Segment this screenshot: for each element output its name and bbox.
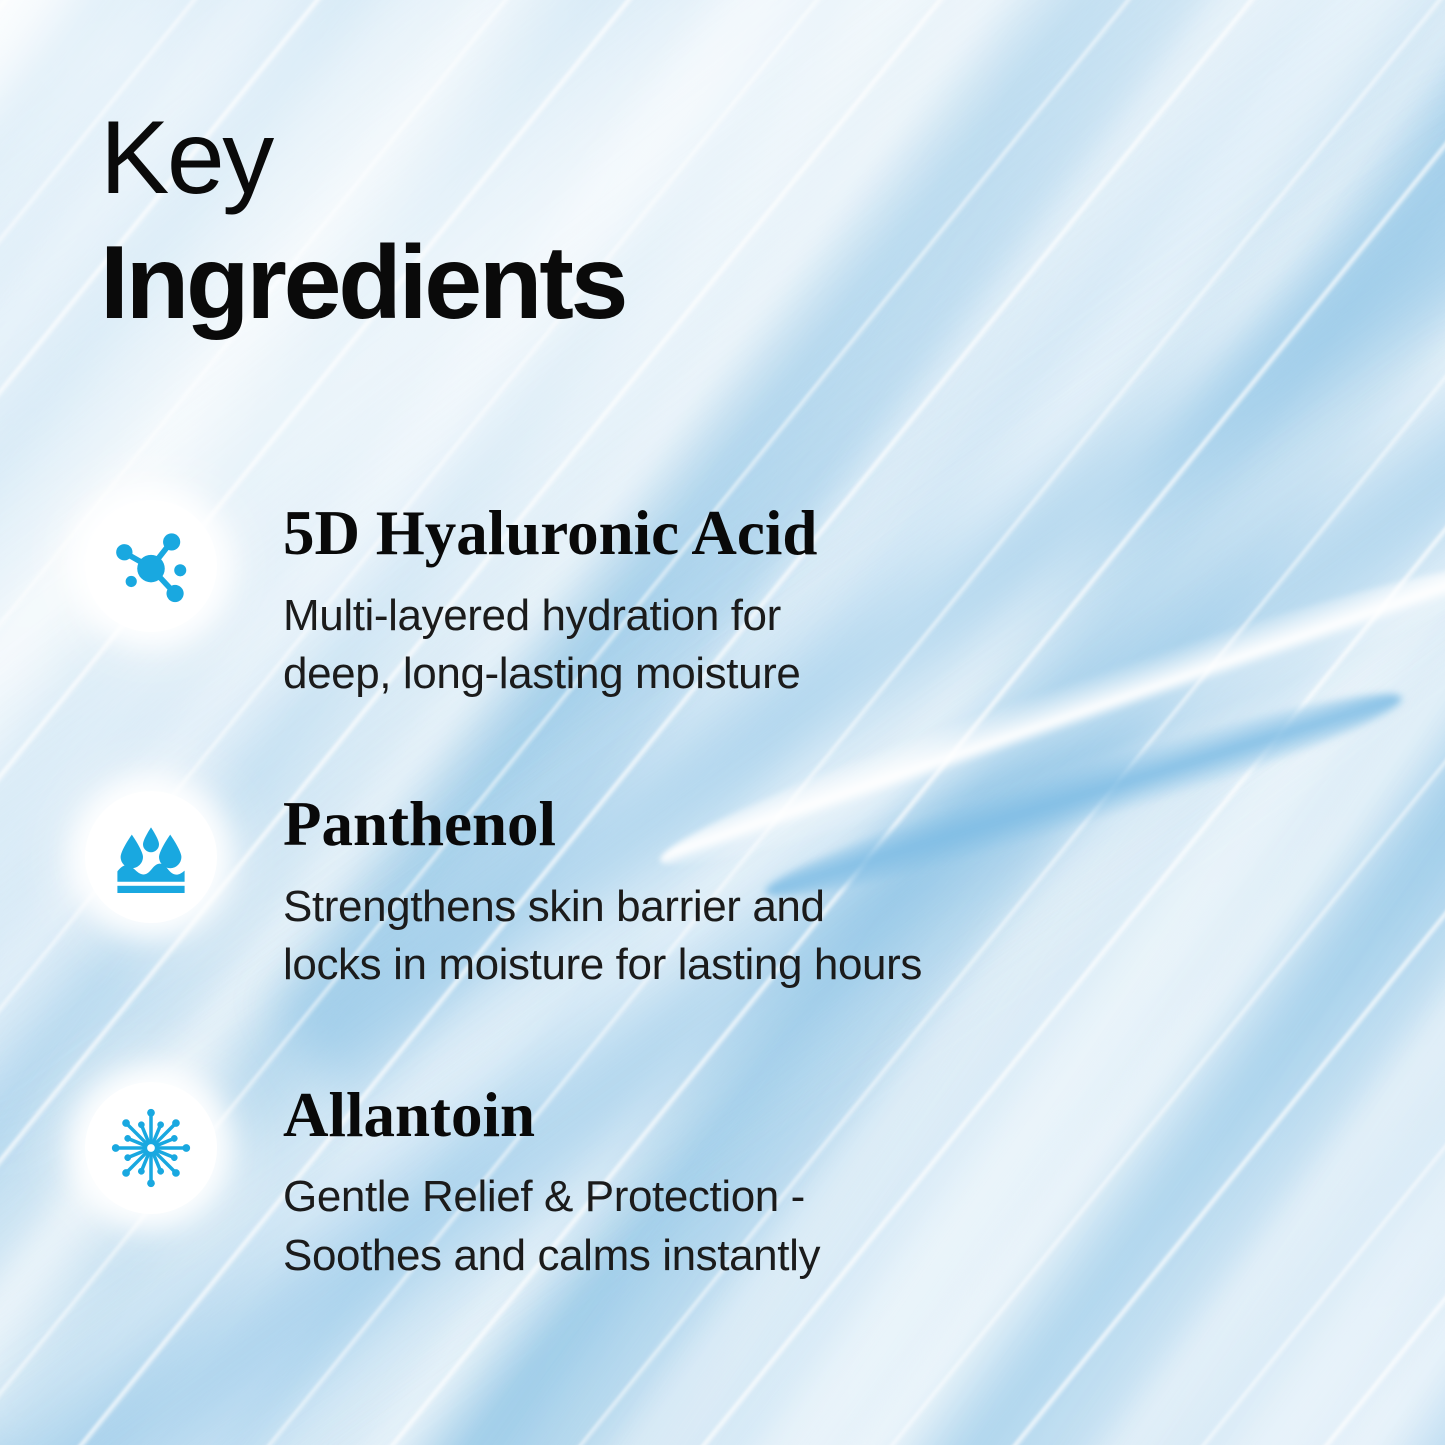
icon-badge-allantoin: [85, 1082, 217, 1214]
ingredient-description-line-2: locks in moisture for lasting hours: [283, 936, 922, 995]
ingredient-name: Allantoin: [283, 1082, 820, 1149]
ingredient-description-line-1: Gentle Relief & Protection -: [283, 1168, 820, 1227]
ingredient-description: Strengthens skin barrier and locks in mo…: [283, 878, 922, 995]
icon-badge-hyaluronic-acid: [85, 500, 217, 632]
ingredient-text-panthenol: Panthenol Strengthens skin barrier and l…: [283, 789, 922, 995]
ingredient-text-allantoin: Allantoin Gentle Relief & Protection - S…: [283, 1080, 820, 1286]
radial-burst-snowflake-icon: [109, 1106, 193, 1190]
ingredient-item-panthenol: Panthenol Strengthens skin barrier and l…: [85, 789, 1185, 995]
ingredient-description: Multi-layered hydration for deep, long-l…: [283, 587, 817, 704]
ingredient-item-allantoin: Allantoin Gentle Relief & Protection - S…: [85, 1080, 1185, 1286]
ingredient-description-line-2: deep, long-lasting moisture: [283, 645, 817, 704]
ingredient-description-line-1: Multi-layered hydration for: [283, 587, 817, 646]
ingredient-description-line-2: Soothes and calms instantly: [283, 1227, 820, 1286]
ingredient-name: 5D Hyaluronic Acid: [283, 500, 817, 567]
page-title: Key Ingredients: [100, 96, 625, 346]
ingredient-description: Gentle Relief & Protection - Soothes and…: [283, 1168, 820, 1285]
ingredient-list: 5D Hyaluronic Acid Multi-layered hydrati…: [85, 498, 1185, 1285]
ingredient-item-hyaluronic-acid: 5D Hyaluronic Acid Multi-layered hydrati…: [85, 498, 1185, 704]
ingredient-description-line-1: Strengthens skin barrier and: [283, 878, 922, 937]
molecule-icon: [108, 523, 194, 609]
page-title-line-2: Ingredients: [100, 221, 625, 346]
ingredient-name: Panthenol: [283, 791, 922, 858]
infographic-content: Key Ingredients: [0, 0, 1445, 1445]
water-droplets-barrier-icon: [111, 817, 191, 897]
page-title-line-1: Key: [100, 96, 625, 221]
ingredient-text-hyaluronic-acid: 5D Hyaluronic Acid Multi-layered hydrati…: [283, 498, 817, 704]
icon-badge-panthenol: [85, 791, 217, 923]
